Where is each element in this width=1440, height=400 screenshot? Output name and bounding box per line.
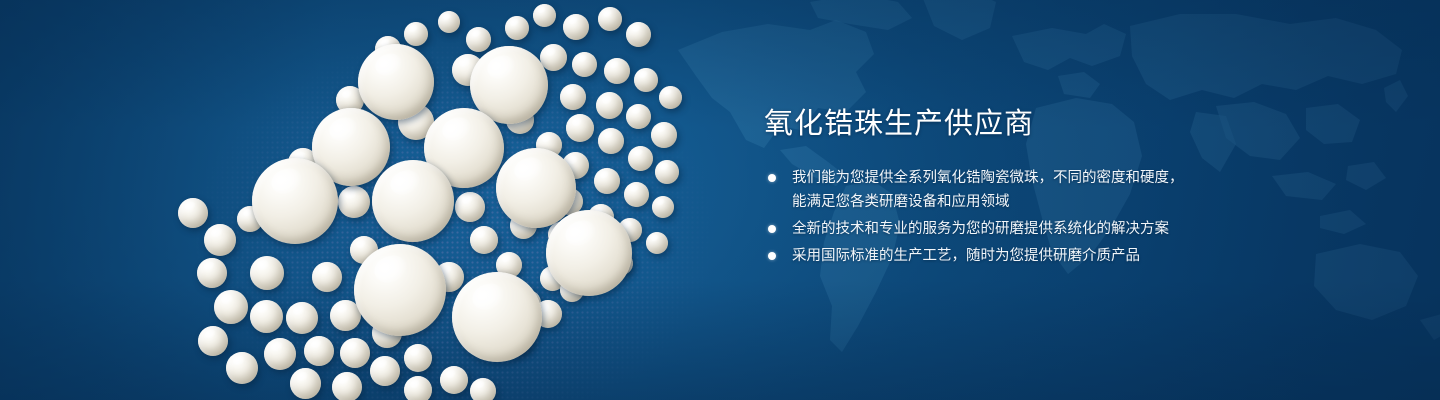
list-item-line-1: 我们能为您提供全系列氧化锆陶瓷微珠，不同的密度和硬度， [792, 170, 1184, 186]
bullet-dot-icon [768, 174, 776, 182]
list-item-line-1: 全新的技术和专业的服务为您的研磨提供系统化的解决方案 [792, 221, 1169, 237]
list-item: 我们能为您提供全系列氧化锆陶瓷微珠，不同的密度和硬度， 能满足您各类研磨设备和应… [764, 166, 1384, 214]
banner-copy: 氧化锆珠生产供应商 我们能为您提供全系列氧化锆陶瓷微珠，不同的密度和硬度， 能满… [764, 104, 1384, 271]
hero-banner: 氧化锆珠生产供应商 我们能为您提供全系列氧化锆陶瓷微珠，不同的密度和硬度， 能满… [0, 0, 1440, 400]
page-title: 氧化锆珠生产供应商 [764, 104, 1384, 144]
list-item: 采用国际标准的生产工艺，随时为您提供研磨介质产品 [764, 244, 1384, 268]
list-item: 全新的技术和专业的服务为您的研磨提供系统化的解决方案 [764, 217, 1384, 241]
bullet-dot-icon [768, 252, 776, 260]
list-item-line-1: 采用国际标准的生产工艺，随时为您提供研磨介质产品 [792, 248, 1140, 264]
feature-list: 我们能为您提供全系列氧化锆陶瓷微珠，不同的密度和硬度， 能满足您各类研磨设备和应… [764, 166, 1384, 268]
list-item-line-2: 能满足您各类研磨设备和应用领域 [792, 190, 1384, 214]
bullet-dot-icon [768, 225, 776, 233]
